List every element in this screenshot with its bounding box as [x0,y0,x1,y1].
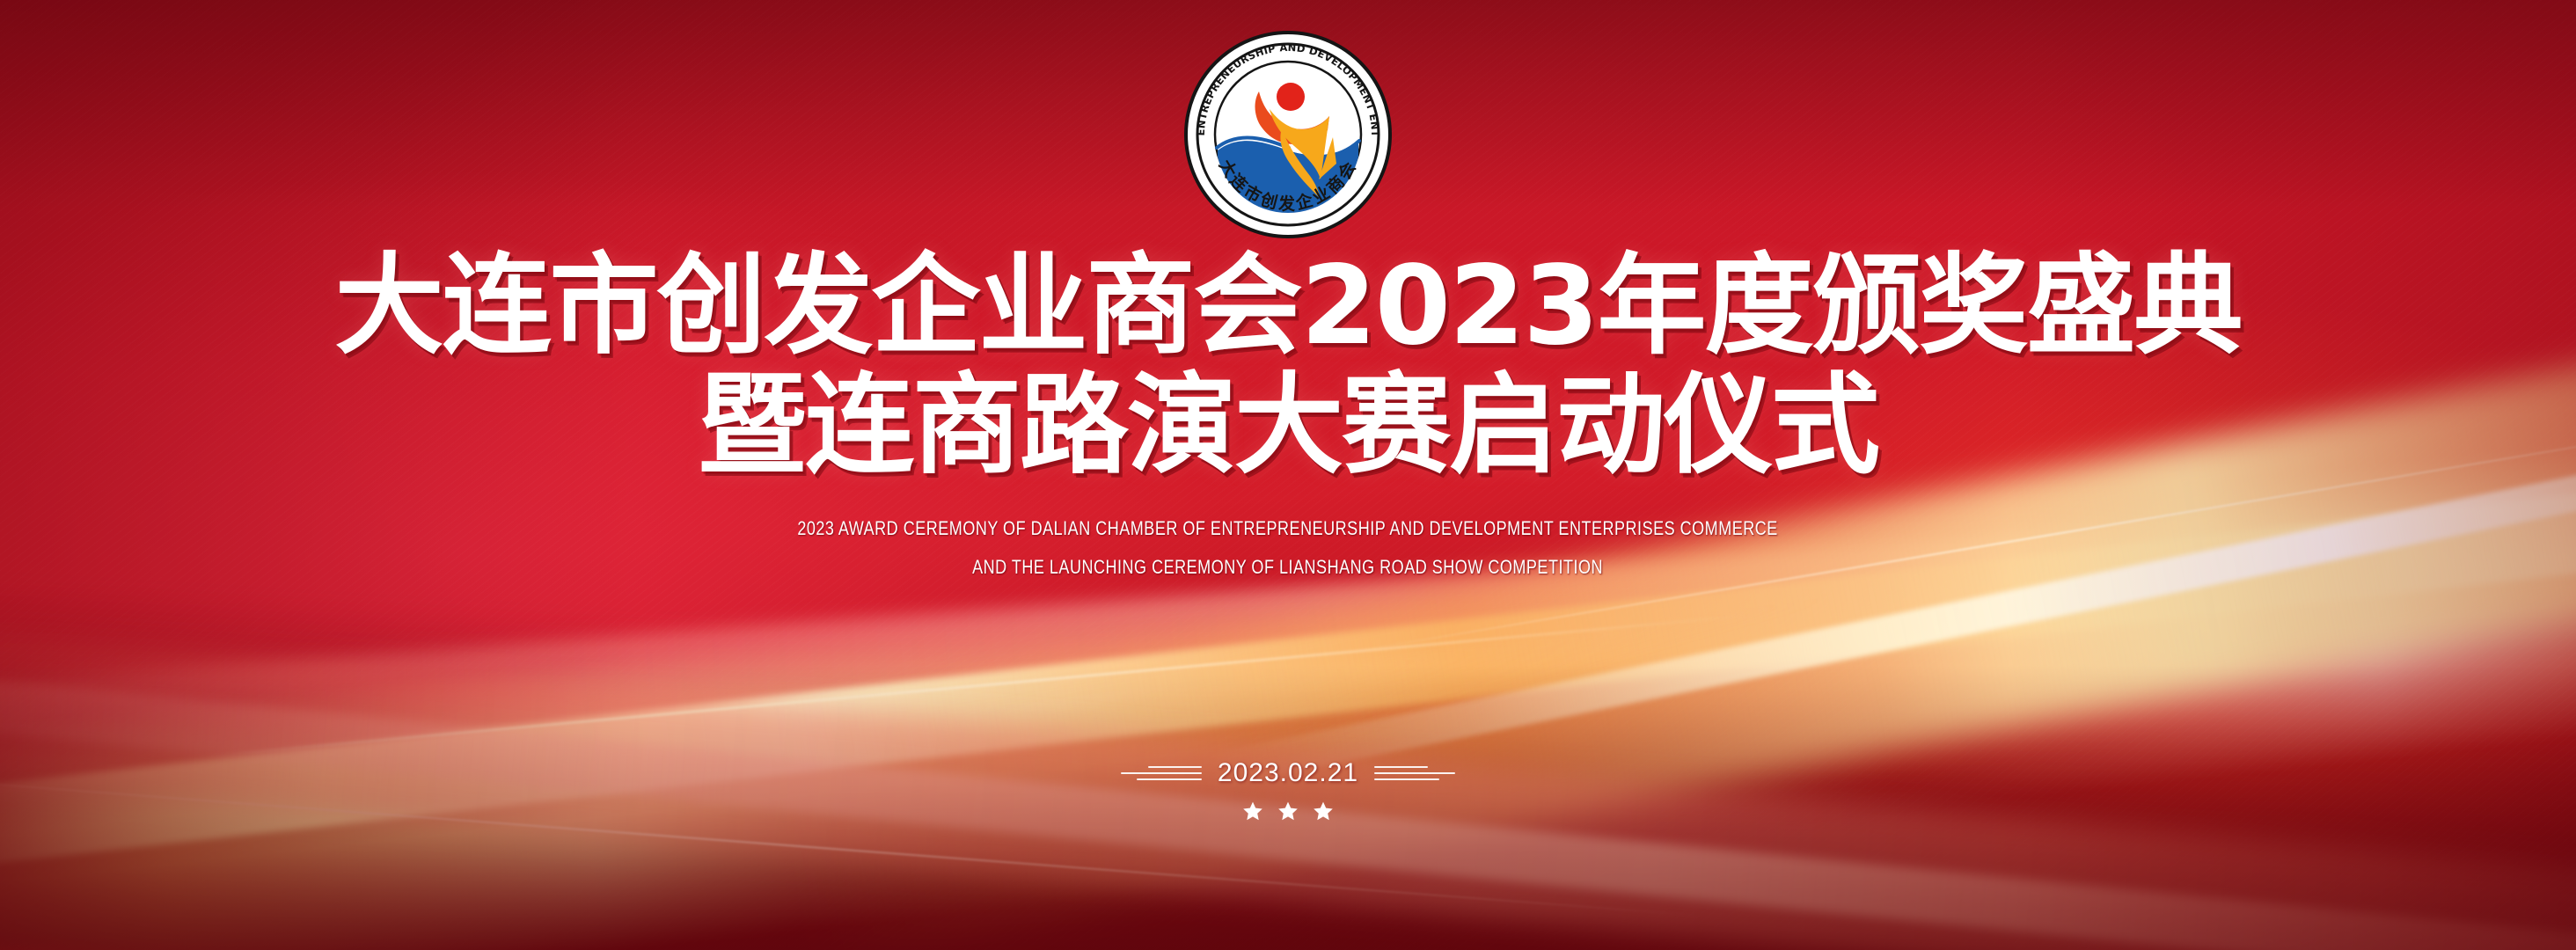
star-icon [1277,800,1299,822]
date-rule-right-icon [1374,766,1455,780]
event-subtitle-line-1: 2023 AWARD CEREMONY OF DALIAN CHAMBER OF… [798,519,1778,538]
event-title-line-1: 大连市创发企业商会2023年度颁奖盛典 [334,252,2241,361]
star-icon [1242,800,1263,822]
date-rule-left-icon [1121,766,1202,780]
event-subtitle-line-2: AND THE LAUNCHING CEREMONY OF LIANSHANG … [798,558,1778,577]
event-date-row: 2023.02.21 [1121,758,1455,788]
event-title-line-2: 暨连商路演大赛启动仪式 [334,371,2241,480]
star-icon [1313,800,1334,822]
star-decoration [1242,800,1334,822]
event-subtitle: 2023 AWARD CEREMONY OF DALIAN CHAMBER OF… [690,519,1885,577]
poster-canvas: DALIAN CHAMBER OF ENTREPRENEURSHIP AND D… [0,0,2576,950]
event-title: 大连市创发企业商会2023年度颁奖盛典 暨连商路演大赛启动仪式 [334,252,2241,480]
chamber-logo-icon: DALIAN CHAMBER OF ENTREPRENEURSHIP AND D… [1178,25,1398,245]
event-date-block: 2023.02.21 [0,758,2576,822]
event-date: 2023.02.21 [1218,758,1358,788]
